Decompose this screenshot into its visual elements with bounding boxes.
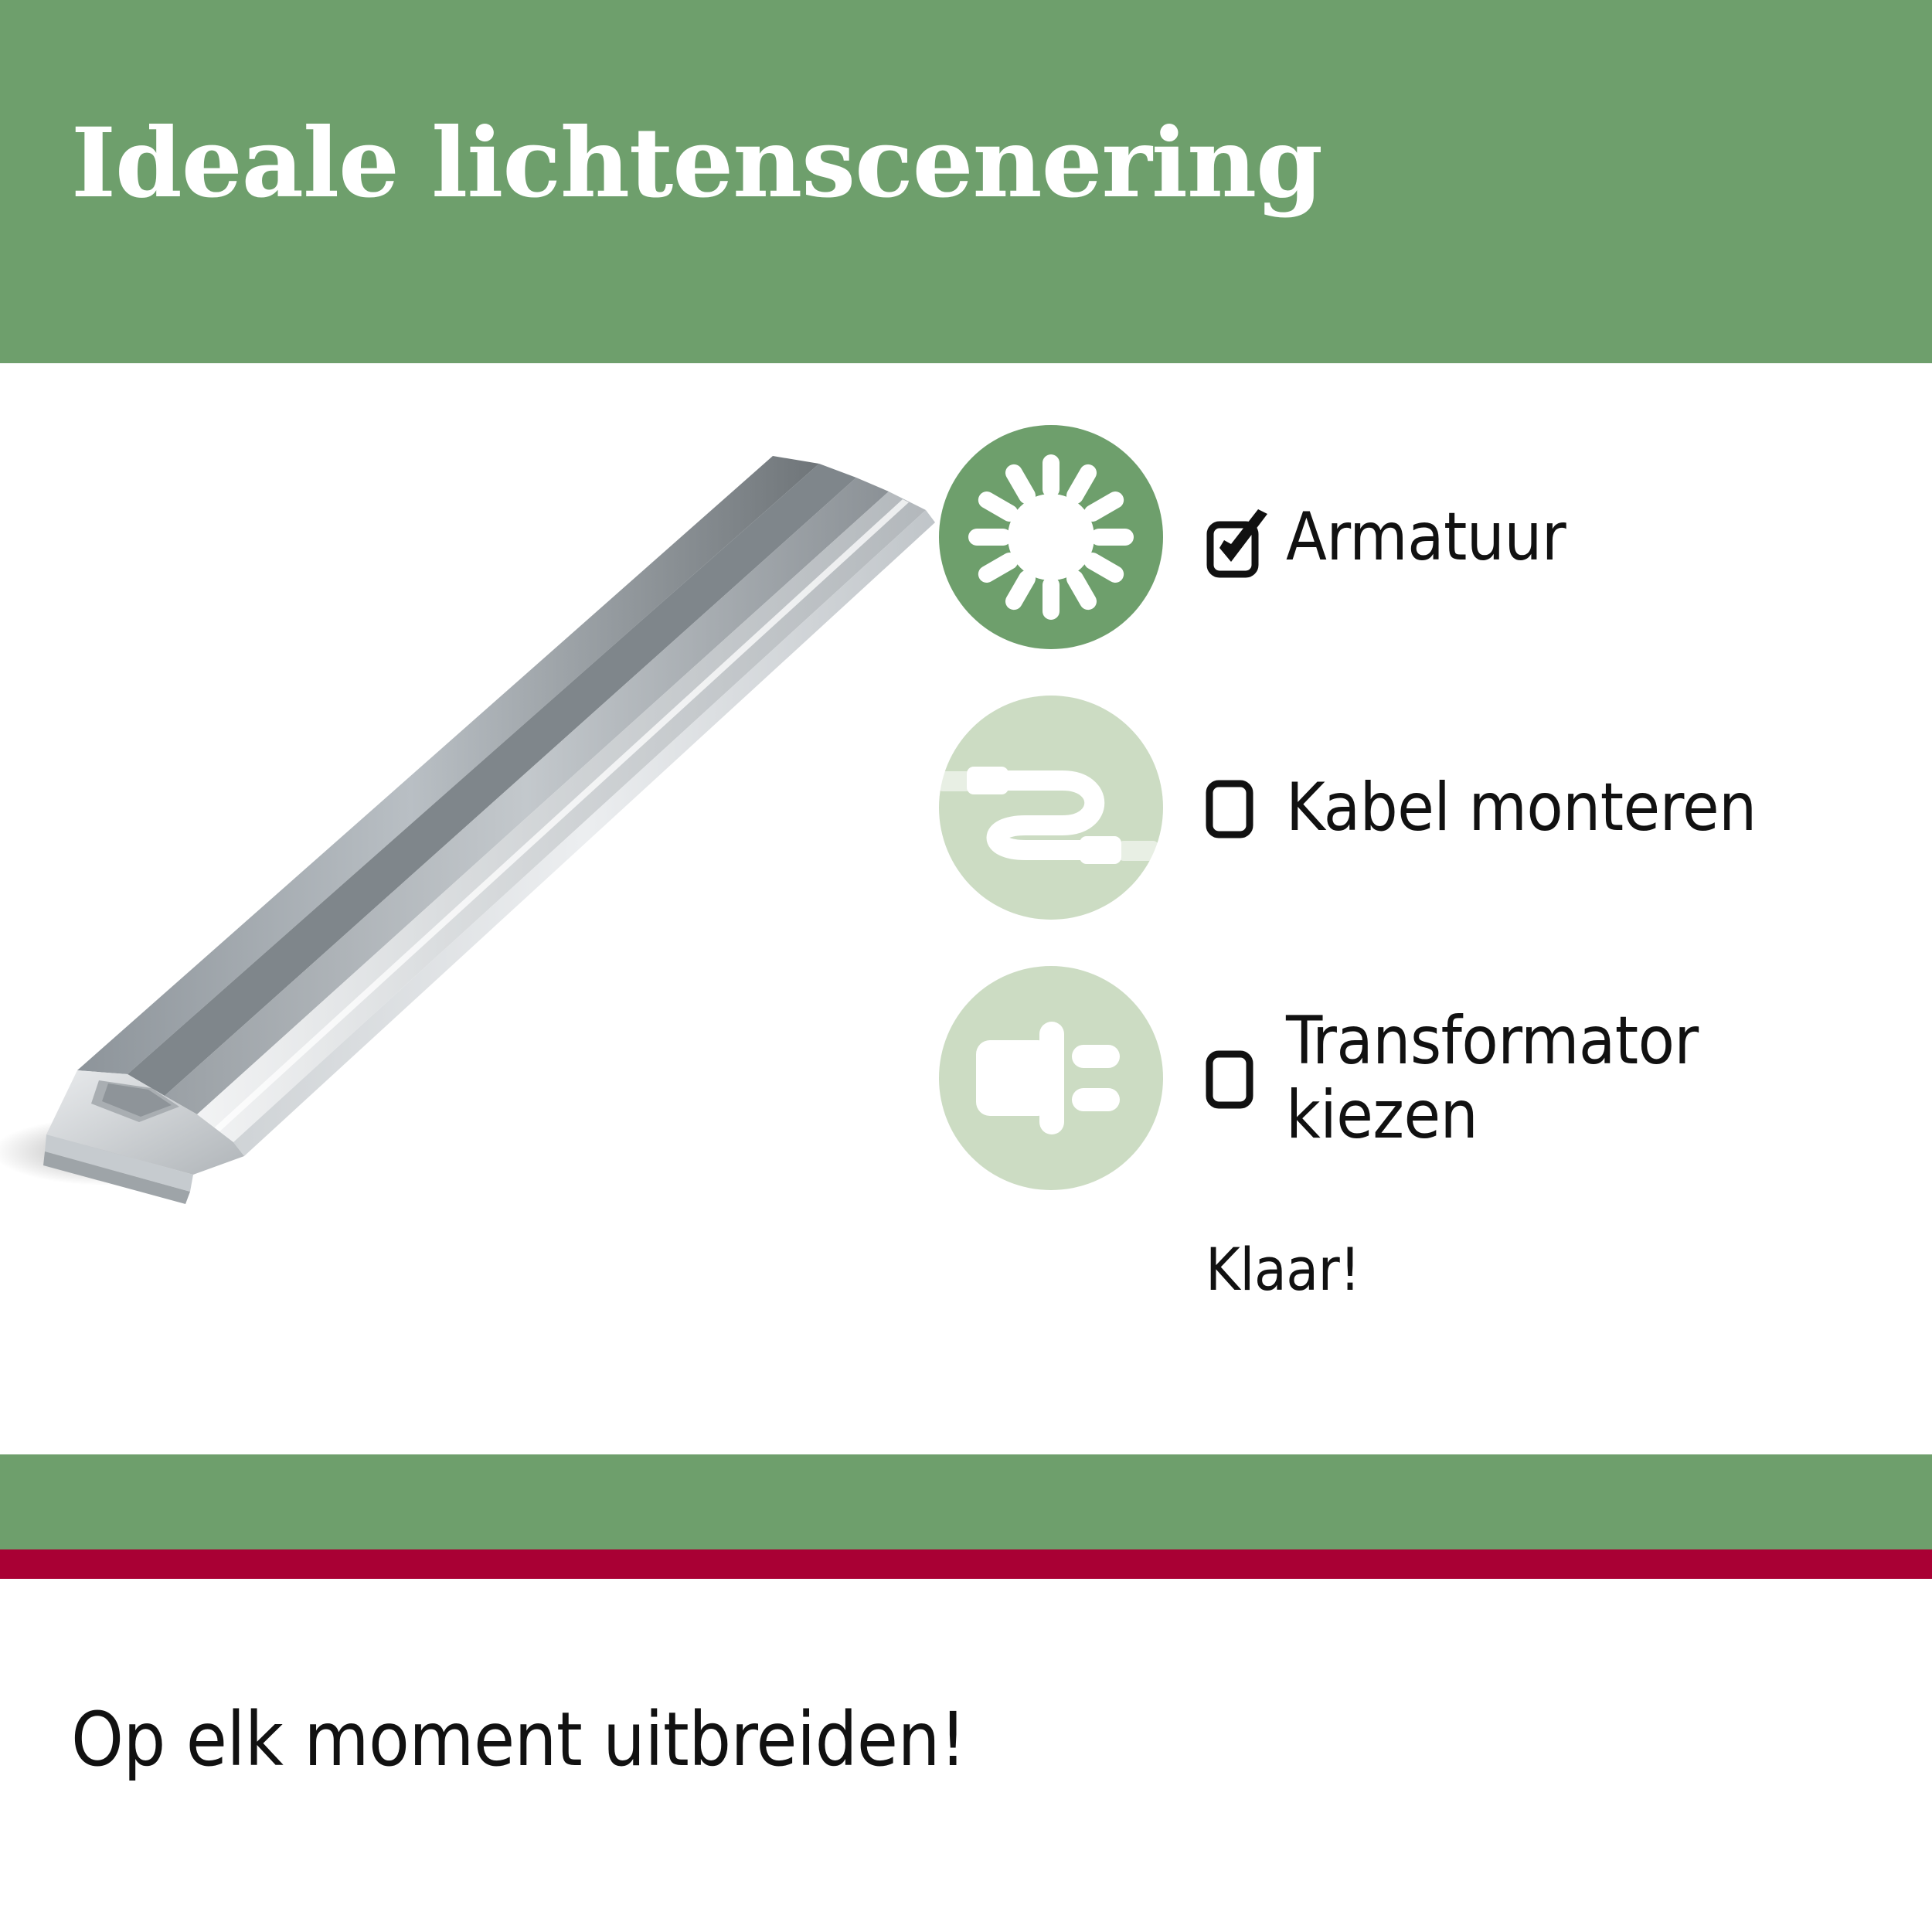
installation-checklist: Armatuur <box>939 425 1932 1236</box>
page-title: Ideale lichtenscenering <box>71 116 1322 212</box>
checklist-row-armatuur[interactable]: Armatuur <box>939 425 1932 649</box>
checklist-row-transformator[interactable]: Transformator kiezen <box>939 966 1932 1190</box>
checkbox-unchecked-icon <box>1206 1050 1253 1109</box>
main-content: Armatuur <box>0 363 1932 1454</box>
checklist-item-body: Armatuur <box>1206 425 1566 649</box>
footer-red-rule <box>0 1549 1932 1579</box>
checklist-label-kabel: Kabel monteren <box>1286 770 1757 845</box>
checklist-label-armatuur: Armatuur <box>1286 500 1566 574</box>
checkbox-checked-icon <box>1206 509 1272 579</box>
power-plug-icon-badge <box>939 966 1163 1190</box>
checkbox-unchecked-kabel[interactable] <box>1206 780 1253 835</box>
power-plug-icon <box>939 966 1163 1190</box>
checkbox-unchecked-icon <box>1206 780 1253 838</box>
cable-icon-badge <box>939 696 1163 920</box>
checklist-item-body: Transformator kiezen <box>1206 966 1699 1190</box>
aluminium-led-profile-illustration <box>0 456 943 1383</box>
footer-tagline: Op elk moment uitbreiden! <box>71 1696 966 1783</box>
checklist-done-label: Klaar! <box>1206 1235 1360 1304</box>
checklist-item-body: Kabel monteren <box>1206 696 1757 920</box>
checkbox-unchecked-transformator[interactable] <box>1206 1050 1253 1106</box>
checklist-row-kabel[interactable]: Kabel monteren <box>939 696 1932 920</box>
sun-icon-badge <box>939 425 1163 649</box>
product-image <box>0 456 943 1383</box>
checklist-label-transformator: Transformator kiezen <box>1286 1004 1699 1153</box>
checkbox-checked-armatuur[interactable] <box>1206 509 1253 565</box>
header-band: Ideale lichtenscenering <box>0 0 1932 363</box>
cable-icon <box>939 696 1163 920</box>
footer-green-band <box>0 1454 1932 1549</box>
sun-icon <box>939 425 1163 649</box>
